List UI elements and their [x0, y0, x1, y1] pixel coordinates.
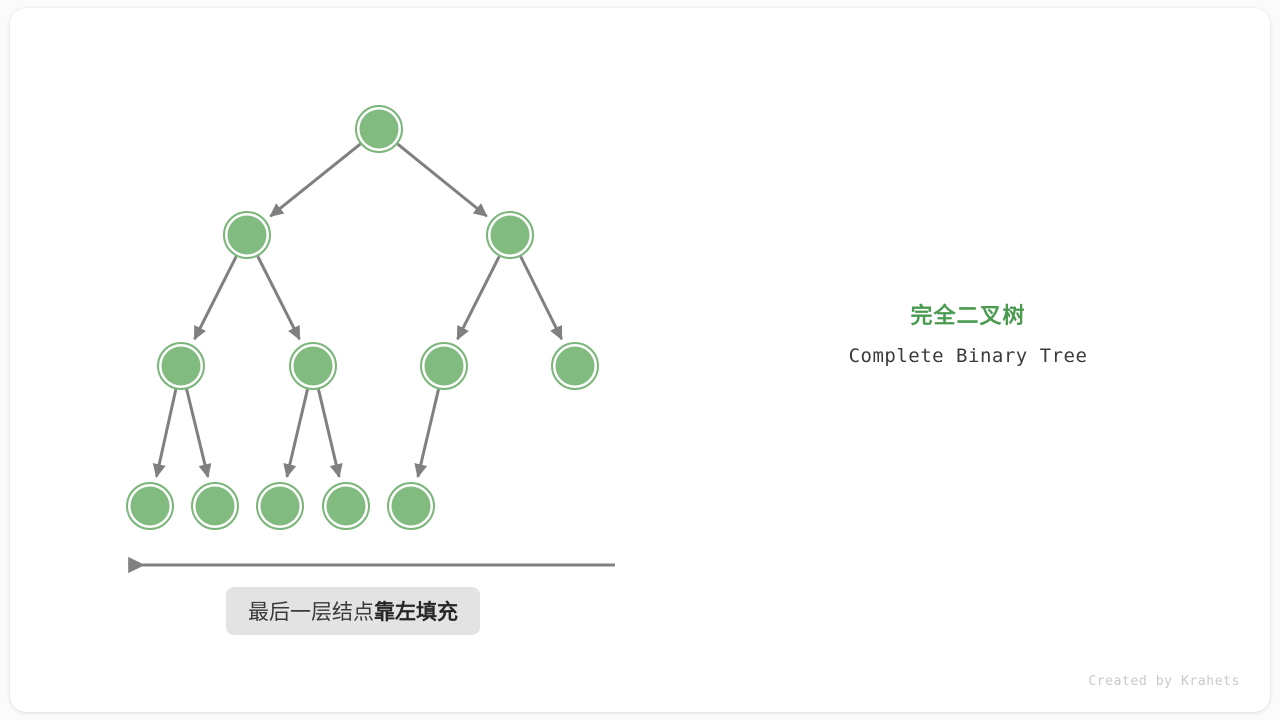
tree-node: [192, 483, 238, 529]
tree-edge: [187, 389, 208, 477]
caption-emphasis: 靠左填充: [374, 596, 458, 626]
node-fill: [131, 487, 170, 526]
tree-edge: [287, 389, 308, 476]
tree-node: [356, 106, 402, 152]
tree-node: [323, 483, 369, 529]
caption-prefix: 最后一层结点: [248, 596, 374, 626]
tree-node: [127, 483, 173, 529]
node-fill: [425, 347, 464, 386]
caption-badge: 最后一层结点靠左填充: [226, 587, 480, 635]
node-fill: [228, 216, 267, 255]
tree-node: [290, 343, 336, 389]
tree-edge: [319, 389, 340, 476]
tree-node: [388, 483, 434, 529]
tree-node: [421, 343, 467, 389]
node-fill: [327, 487, 366, 526]
node-fill: [162, 347, 201, 386]
tree-node: [487, 212, 533, 258]
tree-edge: [521, 256, 562, 339]
node-fill: [261, 487, 300, 526]
tree-edge: [270, 144, 360, 216]
diagram-canvas: 完全二叉树 Complete Binary Tree 最后一层结点靠左填充 Cr…: [0, 0, 1280, 720]
tree-edge: [194, 256, 236, 339]
tree-edge: [457, 256, 499, 339]
node-fill: [491, 216, 530, 255]
legend-title: 完全二叉树: [768, 298, 1168, 330]
node-fill: [360, 110, 399, 149]
tree-node: [552, 343, 598, 389]
legend-subtitle: Complete Binary Tree: [768, 345, 1168, 367]
tree-nodes: [127, 106, 598, 529]
tree-edge: [418, 389, 439, 476]
node-fill: [294, 347, 333, 386]
tree-node: [224, 212, 270, 258]
tree-node: [257, 483, 303, 529]
tree-edge: [156, 389, 175, 476]
tree-edges: [156, 144, 561, 477]
credit-text: Created by Krahets: [900, 674, 1240, 689]
tree-edge: [398, 144, 487, 216]
node-fill: [392, 487, 431, 526]
tree-node: [158, 343, 204, 389]
node-fill: [196, 487, 235, 526]
node-fill: [556, 347, 595, 386]
tree-edge: [258, 256, 300, 339]
